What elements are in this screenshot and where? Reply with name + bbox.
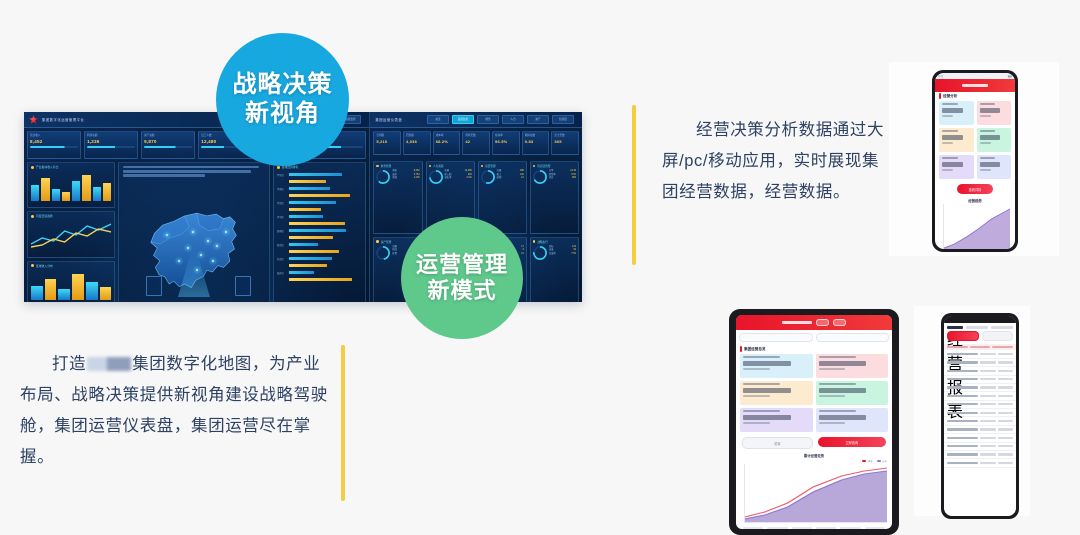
kpi-card[interactable] [939, 128, 974, 152]
tab-detail[interactable] [947, 331, 979, 341]
bar-chart [28, 169, 114, 203]
dashboard-body: 产业板块收入对比 月度经营趋势 [24, 162, 369, 302]
kpi-value: 96.5% [495, 138, 517, 145]
reset-button[interactable]: 重置 [742, 437, 813, 449]
donut-chart-icon [429, 170, 443, 184]
module-tile[interactable]: 战略执行 目标120 达成92 完成率77% [530, 237, 579, 303]
ranking-panel: 区域经营排名 华东区 华南区 华北区 华中区 西南区 西北区 [273, 162, 367, 302]
strategy-badge: 战略决策 新视角 [216, 33, 349, 166]
map-info-card-right[interactable] [235, 276, 251, 296]
table-row [944, 459, 1016, 467]
rank-item: 西北区 [274, 241, 366, 248]
kpi-card[interactable]: 安全天数 365 [551, 131, 579, 155]
redacted-company-name [87, 357, 131, 371]
kpi-card[interactable] [939, 155, 974, 179]
report-title: 经营报表 [947, 326, 963, 329]
rank-item [274, 262, 366, 269]
table-row [944, 451, 1016, 459]
kpi-value: 4,036 [406, 138, 428, 145]
kpi-card[interactable] [816, 408, 889, 432]
kpi-card[interactable] [740, 408, 813, 432]
legend-last-year: 去年 [877, 459, 887, 463]
hero-action-icon[interactable] [816, 319, 829, 326]
donut-chart-icon [376, 246, 390, 260]
module-tile[interactable]: 财务管理 营收8,452 成本5,764 利润1,236 [373, 161, 422, 234]
tab-summary[interactable] [982, 331, 1014, 341]
tile-title: 供应链管理 [533, 164, 576, 168]
tile-title: 财务管理 [376, 164, 419, 168]
kpi-card[interactable] [816, 381, 889, 405]
dashboard-title: 集团数字化运营管理平台 [42, 117, 84, 122]
mobile-report-list: 经营报表 [941, 313, 1019, 519]
rank-item [274, 178, 366, 185]
kpi-value: 365 [554, 138, 576, 145]
kpi-card-row-right: 合同额 5,210 回款额 4,036 成本率 68.2% 周转天数 42 在岗… [370, 128, 582, 158]
bar-chart-panel-2: 区域收入分布 [27, 261, 115, 302]
kpi-card[interactable]: 能耗指数 0.83 [522, 131, 550, 155]
app-hero-banner [935, 79, 1015, 92]
kpi-value: 5,210 [376, 138, 398, 145]
tile-title: 项目管理 [481, 164, 524, 168]
star-logo-icon [29, 115, 38, 124]
rank-item [274, 192, 366, 199]
chart-caption: 累计经营走势 [736, 451, 892, 459]
bar-chart-2 [28, 268, 114, 302]
kpi-progress [30, 146, 78, 148]
slide-canvas: 集团数字化运营管理平台 经营驾驶舱 产业布局 财务分析 运营监控 营业收入 8,… [0, 0, 1080, 529]
rank-item: 华中区 [274, 213, 366, 220]
kpi-card[interactable]: 合同额 5,210 [373, 131, 401, 155]
tablet-dashboard: 集团经营总览 重置 立即查询 累计经营走势 本年 去年 [729, 309, 899, 535]
rank-item: 海外区 [274, 269, 366, 276]
rank-item [274, 248, 366, 255]
map-info-card-left[interactable] [146, 276, 162, 296]
kpi-value: 9,870 [144, 138, 192, 145]
phone-screen: 经营报表 [944, 316, 1016, 516]
kpi-card[interactable] [977, 128, 1012, 152]
kpi-card[interactable] [977, 101, 1012, 125]
app-hero-banner [736, 315, 892, 330]
status-icons: ▮▮▮ [1008, 75, 1012, 78]
action-button-row: 重置 立即查询 [736, 432, 892, 451]
ranking-list: 华东区 华南区 华北区 华中区 西南区 西北区 东北区 [274, 169, 366, 283]
module-tile[interactable]: 供应链管理 订单2,140 到货率97% 库存860 [530, 161, 579, 234]
nav-tab-r3[interactable]: 人力 [502, 115, 524, 124]
kpi-card[interactable] [939, 101, 974, 125]
operations-badge-line1: 运营管理 [416, 252, 508, 278]
map-summary-text [119, 163, 269, 177]
hero-title [782, 321, 812, 324]
rank-item [274, 276, 366, 283]
tablet-screen: 集团经营总览 重置 立即查询 累计经营走势 本年 去年 [736, 315, 892, 529]
donut-chart-icon [481, 170, 495, 184]
strategy-badge-line1: 战略决策 [233, 71, 333, 99]
donut-chart-icon [376, 170, 390, 184]
mobile-dashboard-phone: 9:41 ▮▮▮ 经营分析 查看详情 经营趋势 [932, 70, 1018, 252]
kpi-card[interactable]: 周转天数 42 [462, 131, 490, 155]
dashboard-nav-right[interactable]: 总览 运营监控 财务 人力 资产 供应链 [427, 115, 577, 124]
kpi-card[interactable]: 资产总额 9,870 [141, 131, 195, 159]
legend-current-year: 本年 [862, 459, 872, 463]
dashboard-title-right: 集团运营仪表盘 [375, 117, 402, 122]
kpi-card[interactable]: 利润总额 1,236 [84, 131, 138, 159]
kpi-progress [87, 146, 135, 148]
copy-left-before: 打造 [52, 355, 86, 373]
rank-item: 西南区 [274, 227, 366, 234]
area-chart [943, 204, 1010, 249]
kpi-card[interactable] [816, 354, 889, 378]
nav-tab-r1[interactable]: 运营监控 [452, 115, 474, 124]
rank-item [274, 234, 366, 241]
bar-chart-panel: 产业板块收入对比 [27, 162, 115, 208]
section-title: 经营分析 [935, 92, 1015, 101]
nav-tab-r2[interactable]: 财务 [477, 115, 499, 124]
company-select[interactable] [816, 333, 890, 342]
table-row [944, 426, 1016, 434]
operations-badge-line2: 新模式 [427, 278, 496, 304]
kpi-value: 42 [465, 138, 487, 145]
table-row [944, 434, 1016, 442]
kpi-progress [144, 146, 192, 148]
strategy-badge-line2: 新视角 [245, 100, 320, 128]
kpi-card[interactable] [740, 381, 813, 405]
chart-caption: 经营趋势 [935, 196, 1015, 204]
kpi-value: 0.83 [525, 138, 547, 145]
kpi-card[interactable]: 回款额 4,036 [403, 131, 431, 155]
donut-chart-icon [533, 170, 547, 184]
kpi-value: 8,452 [30, 138, 78, 145]
nav-tab-r4[interactable]: 资产 [527, 115, 549, 124]
china-map-panel [118, 162, 270, 302]
area-chart [744, 464, 887, 523]
left-body-copy: 打造集团数字化地图，为产业布局、战略决策提供新视角建设战略驾驶舱，集团运营仪表盘… [20, 349, 330, 473]
rank-item: 华南区 [274, 185, 366, 192]
line-chart [28, 218, 114, 257]
section-title: 集团经营总览 [736, 345, 892, 354]
query-button[interactable]: 立即查询 [818, 437, 887, 447]
dashboard-header-right: 集团运营仪表盘 总览 运营监控 财务 人力 资产 供应链 [370, 112, 582, 128]
operations-badge: 运营管理 新模式 [401, 217, 523, 339]
kpi-value: 68.2% [436, 138, 458, 145]
phone-screen: 9:41 ▮▮▮ 经营分析 查看详情 经营趋势 [935, 73, 1015, 249]
report-header: 经营报表 [944, 323, 1016, 331]
rank-item: 华北区 [274, 199, 366, 206]
rank-item [274, 206, 366, 213]
kpi-value: 1,236 [87, 138, 135, 145]
kpi-card[interactable]: 在岗率 96.5% [492, 131, 520, 155]
table-row [944, 443, 1016, 451]
kpi-card[interactable]: 营业收入 8,452 [27, 131, 81, 159]
action-button-row: 查看详情 [935, 179, 1015, 196]
kpi-card[interactable]: 成本率 68.2% [433, 131, 461, 155]
donut-chart-icon [533, 246, 547, 260]
chart-column: 产业板块收入对比 月度经营趋势 [27, 162, 115, 302]
nav-tab-r5[interactable]: 供应链 [552, 115, 574, 124]
kpi-card-grid [935, 101, 1015, 179]
kpi-card-grid [736, 354, 892, 432]
tile-title: 战略执行 [533, 240, 576, 244]
rank-item: 东北区 [274, 255, 366, 262]
status-time: 9:41 [938, 75, 943, 78]
accent-rule-right [632, 105, 636, 265]
rank-item: 华东区 [274, 171, 366, 178]
right-body-copy: 经营决策分析数据通过大屏/pc/移动应用，实时展现集团经营数据，经营数据。 [662, 115, 892, 208]
kpi-card[interactable] [740, 354, 813, 378]
line-chart-panel: 月度经营趋势 [27, 211, 115, 257]
primary-button[interactable]: 查看详情 [957, 184, 993, 194]
nav-tab-r0[interactable]: 总览 [427, 115, 449, 124]
rank-item [274, 220, 366, 227]
tile-title: 人力资源 [429, 164, 472, 168]
kpi-card[interactable] [977, 155, 1012, 179]
filter-bar [736, 330, 892, 345]
period-select[interactable] [739, 333, 813, 342]
hero-menu-icon[interactable] [833, 319, 846, 326]
accent-rule-left [341, 345, 345, 501]
